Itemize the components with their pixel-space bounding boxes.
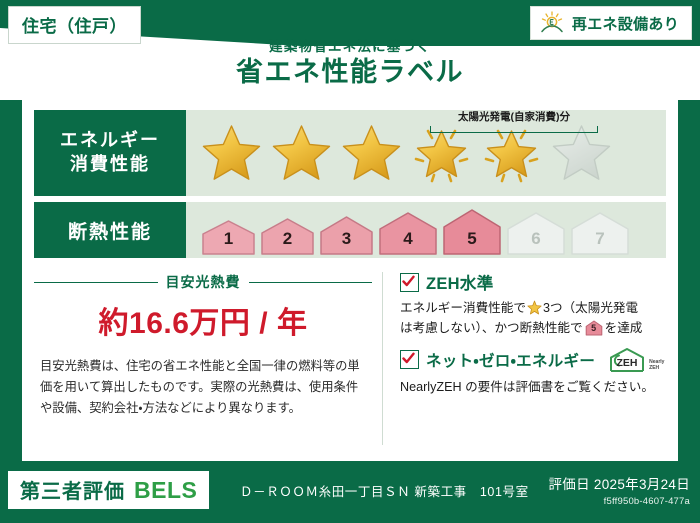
renewable-badge-label: 再エネ設備あり [572, 13, 679, 34]
zeh-body-text-3: を達成 [605, 321, 643, 335]
star-icon-5-solar [478, 117, 545, 189]
evaluation-id: f5ff950b-4607-477a [548, 496, 690, 507]
house-step-6-label: 6 [505, 229, 567, 249]
house-step-7-label: 7 [569, 229, 631, 249]
insulation-scale: 1 2 3 4 5 [186, 202, 631, 258]
house-step-1-label: 1 [200, 229, 257, 249]
insulation-performance-key: 断熱性能 [34, 202, 186, 258]
house-step-3: 3 [318, 215, 375, 255]
evaluation-meta: 評価日 2025年3月24日 f5ff950b-4607-477a [548, 473, 690, 507]
inline-house-label: 5 [585, 321, 603, 336]
house-step-3-label: 3 [318, 229, 375, 249]
zeh-body-text-star: 3つ（太陽光発電 [543, 301, 638, 315]
energy-performance-value: 太陽光発電(自家消費)分 [186, 110, 666, 196]
star-rating [186, 117, 666, 189]
checkbox-checked-icon-2 [400, 350, 419, 369]
energy-performance-row: エネルギー 消費性能 [34, 110, 666, 196]
label-body-card: エネルギー 消費性能 [22, 100, 678, 461]
house-step-6: 6 [505, 211, 567, 255]
zeh-body-text-1: エネルギー消費性能で [400, 301, 526, 315]
bels-prefix: 第三者評価 [20, 475, 125, 504]
net-zero-energy-body: NearlyZEH の要件は評価書をご覧ください。 [400, 377, 668, 397]
zeh-logo: ZEH Nearly ZEH [607, 347, 664, 373]
house-step-2: 2 [259, 217, 316, 255]
label-title-main: 省エネ性能ラベル [0, 59, 700, 86]
bels-name: BELS [134, 477, 197, 504]
vertical-divider [382, 272, 383, 445]
house-step-2-label: 2 [259, 229, 316, 249]
house-step-4: 4 [377, 211, 439, 255]
zeh-standard-item: ZEH水準 エネルギー消費性能で3つ（太陽光発電は考慮しない）、かつ断熱性能で5… [400, 270, 668, 339]
label-footer: 第三者評価 BELS Ｄ－ＲＯＯＭ糸田一丁目ＳＮ 新築工事 101号室 評価日 … [0, 461, 700, 523]
sun-renewable-icon [539, 11, 565, 35]
bels-badge: 第三者評価 BELS [8, 471, 209, 509]
label-title-block: 建築物省エネ法に基づく 省エネ性能ラベル [0, 40, 700, 86]
house-step-1: 1 [200, 219, 257, 255]
net-zero-energy-item: ネット・ゼロ・エネルギー ZEH Nearly ZEH [400, 347, 668, 397]
inline-house-icon: 5 [585, 320, 603, 336]
house-step-5-label: 5 [441, 229, 503, 249]
zeh-body-text-2: は考慮しない）、かつ断熱性能で [400, 321, 583, 335]
energy-performance-label: 住宅（住戸） 再エネ設備あり 建築物省 [0, 0, 700, 523]
insulation-performance-row: 断熱性能 1 2 3 [34, 202, 666, 258]
zeh-logo-sub-line2: ZEH [649, 365, 659, 371]
zeh-block: ZEH水準 エネルギー消費性能で3つ（太陽光発電は考慮しない）、かつ断熱性能で5… [400, 270, 668, 405]
energy-key-line1: エネルギー [60, 129, 160, 153]
inline-star-icon [527, 300, 542, 315]
zeh-standard-header: ZEH水準 [400, 270, 668, 294]
net-zero-energy-header: ネット・ゼロ・エネルギー ZEH Nearly ZEH [400, 347, 668, 373]
checkbox-checked-icon [400, 273, 419, 292]
renewable-energy-badge: 再エネ設備あり [530, 6, 692, 40]
energy-cost-amount: 約16.6万円 / 年 [34, 298, 372, 342]
evaluation-date: 評価日 2025年3月24日 [548, 473, 690, 493]
star-icon-4-solar [408, 117, 475, 189]
energy-cost-block: 目安光熱費 約16.6万円 / 年 目安光熱費は、住宅の省エネ性能と全国一律の燃… [34, 272, 372, 419]
zeh-standard-body: エネルギー消費性能で3つ（太陽光発電は考慮しない）、かつ断熱性能で5を達成 [400, 298, 668, 339]
label-header: 住宅（住戸） 再エネ設備あり 建築物省 [0, 0, 700, 100]
star-icon-2 [268, 117, 335, 189]
zeh-logo-sub: Nearly ZEH [649, 360, 664, 373]
star-icon-3 [338, 117, 405, 189]
zeh-standard-title: ZEH水準 [426, 270, 494, 294]
energy-key-line2: 消費性能 [70, 153, 150, 177]
house-step-5: 5 [441, 208, 503, 255]
building-type-tab: 住宅（住戸） [8, 6, 141, 44]
star-icon-6-empty [548, 117, 615, 189]
house-step-4-label: 4 [377, 229, 439, 249]
net-zero-energy-title: ネット・ゼロ・エネルギー [426, 349, 595, 371]
house-step-7: 7 [569, 211, 631, 255]
property-name: Ｄ－ＲＯＯＭ糸田一丁目ＳＮ 新築工事 101号室 [240, 481, 529, 500]
energy-cost-heading: 目安光熱費 [34, 272, 372, 292]
energy-cost-note: 目安光熱費は、住宅の省エネ性能と全国一律の燃料等の単価を用いて算出したものです。… [34, 356, 372, 419]
insulation-performance-value: 1 2 3 4 5 [186, 202, 666, 258]
label-title-sub: 建築物省エネ法に基づく [0, 40, 700, 54]
svg-text:ZEH: ZEH [617, 357, 638, 369]
star-icon-1 [198, 117, 265, 189]
energy-performance-key: エネルギー 消費性能 [34, 110, 186, 196]
